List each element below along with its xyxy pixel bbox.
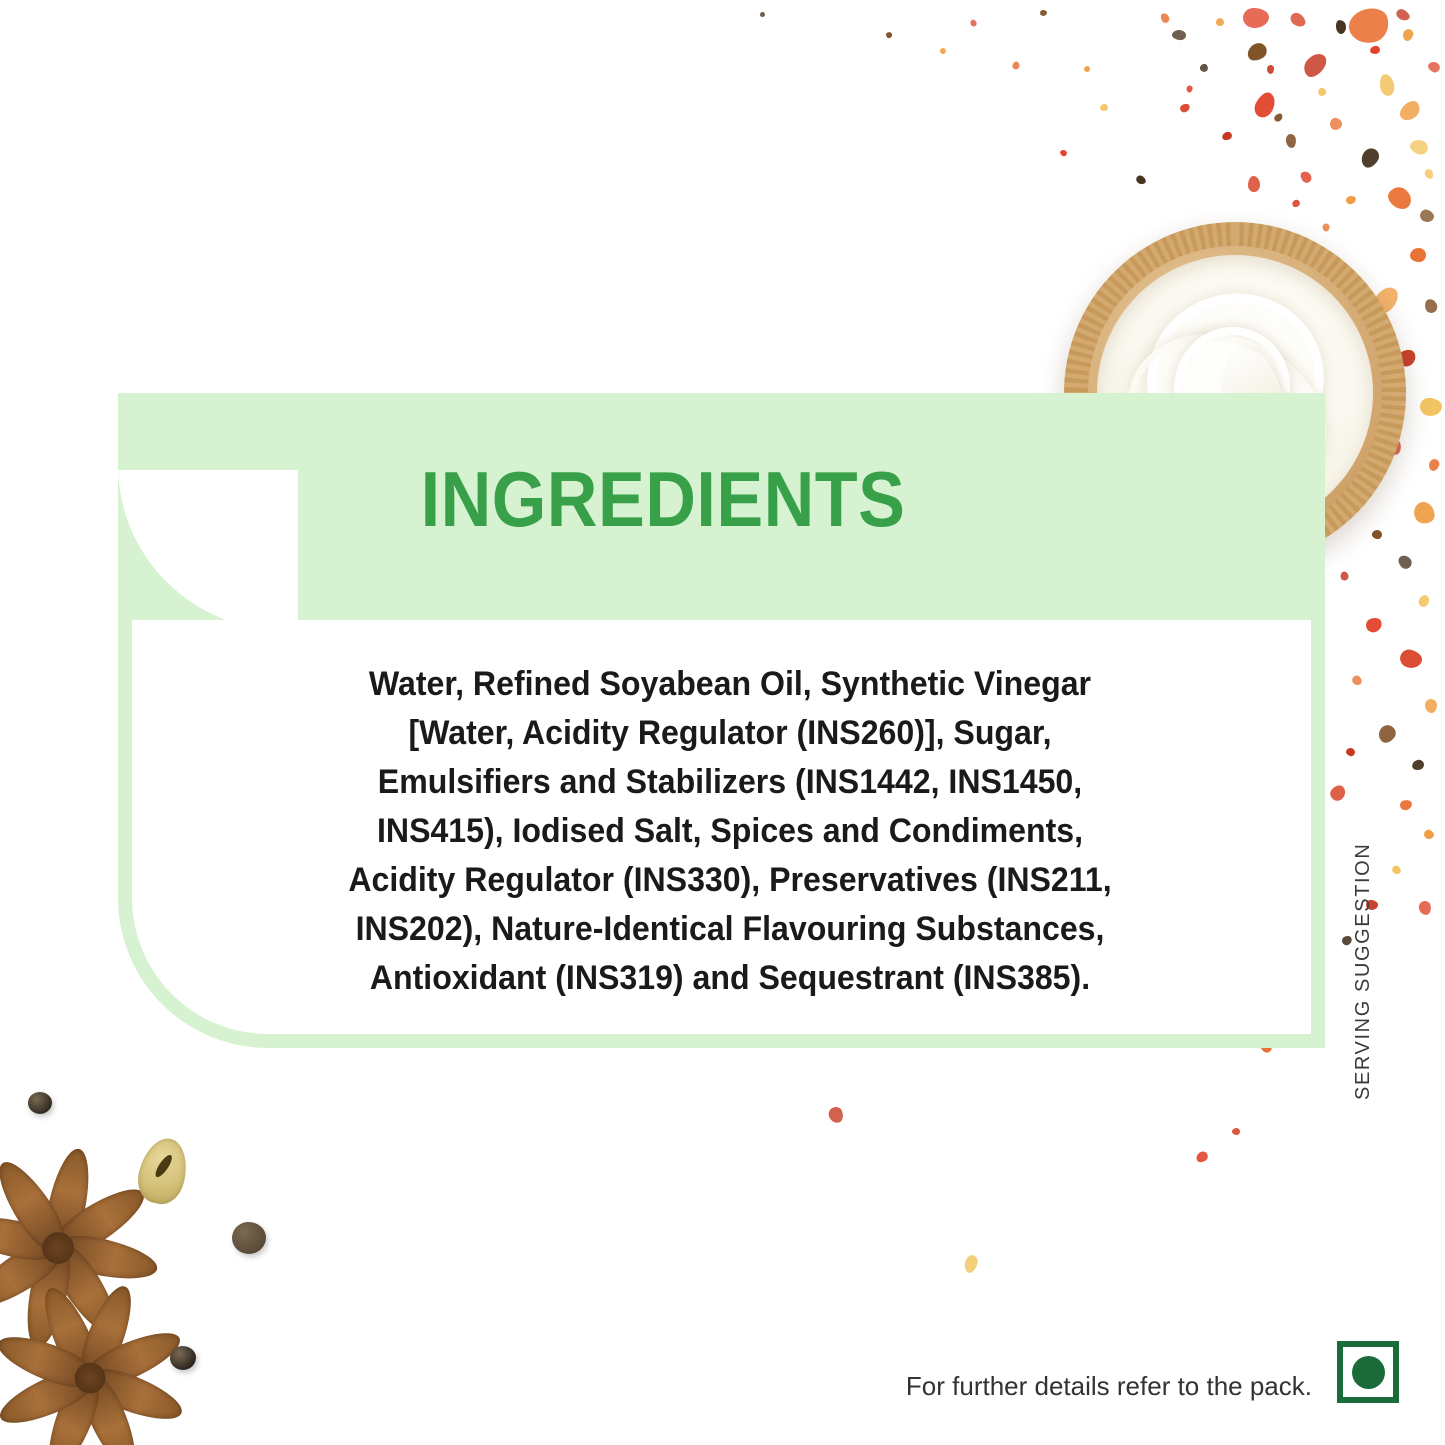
chilli-flake <box>1243 8 1269 28</box>
chilli-flake <box>1398 648 1423 670</box>
chilli-flake <box>1291 198 1302 208</box>
page-title: INGREDIENTS <box>173 460 1154 538</box>
chilli-flake <box>1040 10 1047 16</box>
chilli-flake <box>1186 85 1194 93</box>
star-anise-pod <box>38 1368 107 1445</box>
chilli-flake <box>1059 149 1068 158</box>
chilli-flake <box>969 19 977 28</box>
chilli-flake <box>1248 176 1260 192</box>
chilli-flake <box>1329 117 1343 131</box>
chilli-flake <box>1221 130 1233 141</box>
cardamom-pod-icon <box>133 1133 194 1208</box>
star-anise-core <box>70 1358 111 1399</box>
chilli-flake <box>1335 19 1347 34</box>
chilli-flake <box>1083 65 1090 72</box>
chilli-flake <box>1408 138 1429 156</box>
chilli-flake <box>1159 12 1171 25</box>
chilli-flake <box>1417 593 1432 608</box>
star-anise-pod <box>0 1209 65 1267</box>
chilli-flake <box>1410 499 1438 528</box>
chilli-flake <box>939 47 947 55</box>
chilli-flake <box>1410 248 1426 263</box>
chilli-flake <box>1288 10 1308 29</box>
star-anise-pod <box>0 1231 71 1319</box>
star-anise-pod <box>72 1280 141 1387</box>
star-anise-pod <box>19 1241 77 1351</box>
chilli-flake <box>1411 758 1426 771</box>
chilli-flake <box>963 1254 980 1275</box>
chilli-flake <box>1423 168 1434 180</box>
card-right-border <box>1311 620 1325 1048</box>
chilli-flake <box>827 1105 846 1125</box>
chilli-flake <box>1198 62 1209 73</box>
chilli-flake <box>1427 457 1441 472</box>
star-anise-pod <box>0 1360 100 1434</box>
chilli-flake <box>1369 45 1380 55</box>
chilli-flake <box>1135 174 1148 186</box>
peppercorn-icon <box>170 1346 196 1370</box>
chilli-flake <box>1425 699 1438 714</box>
peppercorn-icon <box>28 1092 52 1114</box>
chilli-flake <box>1375 722 1398 746</box>
chilli-flake <box>1423 828 1436 840</box>
star-anise-pod <box>41 1235 129 1343</box>
chilli-flake <box>1345 747 1356 757</box>
chilli-flake <box>1345 195 1357 206</box>
star-anise-pod <box>0 1153 75 1261</box>
peppercorn-icon <box>232 1222 266 1254</box>
chilli-flake <box>1251 89 1279 120</box>
chilli-flake <box>1384 183 1415 213</box>
chilli-flake <box>1378 73 1396 97</box>
chilli-flake <box>1364 615 1384 634</box>
chilli-flake <box>1423 297 1439 314</box>
chilli-flake <box>1345 4 1393 48</box>
ingredients-list-text: Water, Refined Soyabean Oil, Synthetic V… <box>330 660 1130 1003</box>
chilli-flake <box>1418 208 1435 224</box>
chilli-flake <box>1390 864 1402 876</box>
chilli-flake <box>1012 61 1021 70</box>
star-anise-pod <box>80 1322 187 1396</box>
chilli-flake <box>1426 60 1441 74</box>
star-anise-pod <box>39 1145 97 1255</box>
chilli-flake <box>760 12 765 17</box>
chilli-flake <box>885 31 893 39</box>
chilli-flake <box>1244 40 1269 64</box>
vegetarian-mark-dot <box>1352 1356 1385 1389</box>
chilli-flake <box>1179 102 1192 114</box>
chilli-flake <box>1399 799 1413 812</box>
chilli-flake <box>1394 7 1411 23</box>
star-anise-pod <box>80 1360 187 1429</box>
serving-suggestion-label: SERVING SUGGESTION <box>1352 843 1375 1100</box>
star-anise-pod <box>51 1229 161 1287</box>
chilli-flake <box>1273 112 1284 123</box>
chilli-flake <box>1100 103 1109 111</box>
chilli-flake <box>1328 782 1349 803</box>
pack-reference-note: For further details refer to the pack. <box>906 1371 1312 1402</box>
star-anise-pod <box>72 1368 146 1445</box>
chilli-flake <box>1194 1149 1210 1164</box>
product-ingredients-panel: INGREDIENTS Water, Refined Soyabean Oil,… <box>0 0 1445 1445</box>
chilli-flake <box>1418 900 1432 916</box>
star-anise-pod <box>34 1281 108 1388</box>
vegetarian-mark-icon <box>1337 1341 1399 1403</box>
chilli-flake <box>1358 145 1382 170</box>
star-anise-pod <box>0 1326 100 1395</box>
chilli-flake <box>1401 28 1415 43</box>
chilli-flake <box>1316 86 1327 97</box>
chilli-flake <box>1340 571 1349 581</box>
chilli-flake <box>1267 65 1275 74</box>
chilli-flake <box>1300 49 1331 80</box>
star-anise-pod <box>45 1178 153 1266</box>
chilli-flake <box>1285 134 1296 149</box>
star-anise-core <box>39 1229 77 1267</box>
chilli-flake <box>1396 98 1423 125</box>
chilli-flake <box>1215 17 1224 26</box>
chilli-flake <box>1350 674 1363 687</box>
chilli-flake <box>1420 397 1443 416</box>
chilli-flake <box>1298 169 1313 185</box>
chilli-flake <box>1232 1128 1240 1135</box>
chilli-flake <box>1172 29 1187 40</box>
